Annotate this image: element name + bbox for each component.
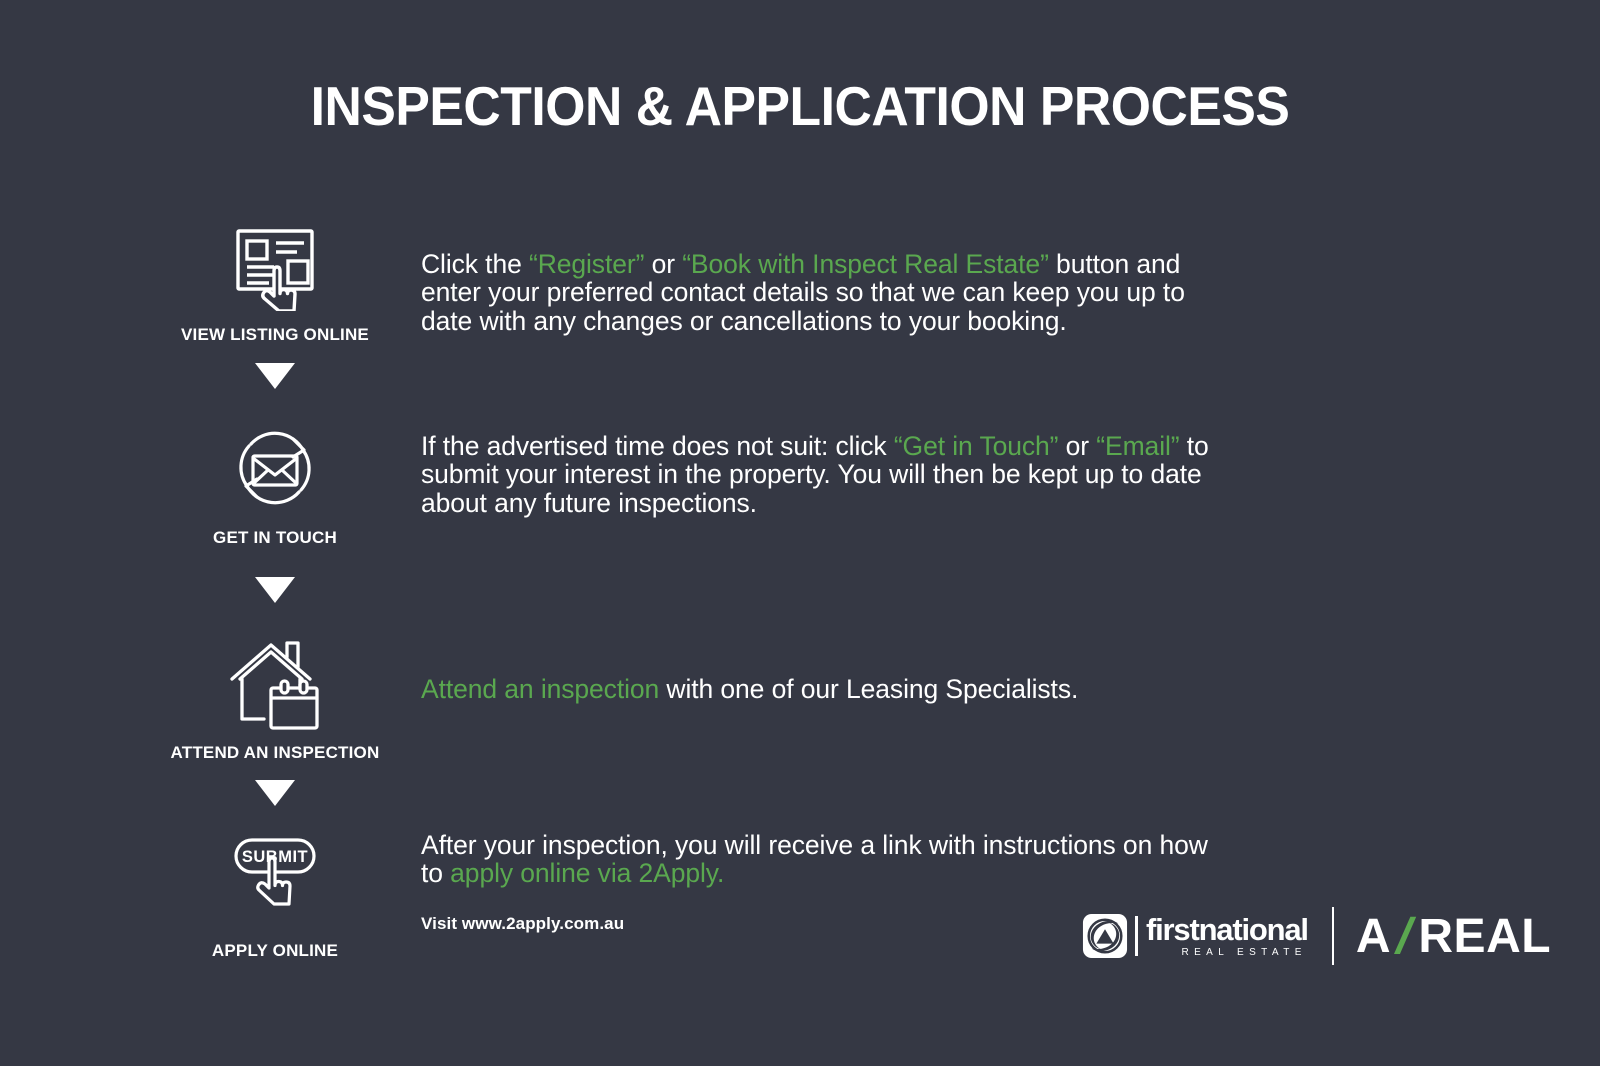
first-national-logo: firstnational REAL ESTATE (1082, 913, 1308, 959)
a-real-slash: / (1391, 907, 1420, 965)
house-calendar-icon (150, 633, 400, 733)
envelope-refresh-icon (150, 418, 400, 518)
step-apply-online: SUBMIT APPLY ONLINE (150, 831, 400, 961)
logo-rule (1135, 916, 1138, 956)
step-label: APPLY ONLINE (150, 941, 400, 961)
text-segment: or (644, 249, 682, 279)
step-attend-an-inspection: ATTEND AN INSPECTION (150, 633, 400, 763)
first-national-name: firstnational (1146, 914, 1308, 945)
text-segment: or (1058, 431, 1096, 461)
accent-register: “Register” (529, 249, 644, 279)
listing-cursor-icon (150, 215, 400, 315)
a-real-word: REAL (1418, 909, 1551, 964)
logo-bar: firstnational REAL ESTATE A / REAL (1082, 905, 1551, 967)
text-segment: with one of our Leasing Specialists. (659, 674, 1078, 704)
step-description-3: Attend an inspection with one of our Lea… (421, 675, 1211, 703)
first-national-tagline: REAL ESTATE (1146, 948, 1308, 958)
a-real-letter-a: A (1356, 909, 1391, 964)
step-label: ATTEND AN INSPECTION (150, 743, 400, 763)
step-description-4: After your inspection, you will receive … (421, 831, 1211, 888)
accent-get-in-touch: “Get in Touch” (894, 431, 1059, 461)
visit-url-note: Visit www.2apply.com.au (421, 914, 624, 934)
page-title: INSPECTION & APPLICATION PROCESS (48, 74, 1552, 138)
accent-attend-an-inspection: Attend an inspection (421, 674, 659, 704)
first-national-wordmark: firstnational REAL ESTATE (1146, 914, 1308, 958)
step-description-2: If the advertised time does not suit: cl… (421, 432, 1211, 517)
step-label: VIEW LISTING ONLINE (150, 325, 400, 345)
text-segment: Click the (421, 249, 529, 279)
step-view-listing-online: VIEW LISTING ONLINE (150, 215, 400, 345)
step-label: GET IN TOUCH (150, 528, 400, 548)
text-segment: If the advertised time does not suit: cl… (421, 431, 894, 461)
accent-apply-online-2apply: apply online via 2Apply. (450, 858, 724, 888)
submit-button-cursor-icon: SUBMIT (150, 831, 400, 931)
logo-divider (1332, 907, 1334, 965)
step-description-1: Click the “Register” or “Book with Inspe… (421, 250, 1211, 335)
first-national-emblem-icon (1082, 913, 1128, 959)
step-get-in-touch: GET IN TOUCH (150, 418, 400, 548)
flow-arrow-2 (150, 577, 400, 603)
accent-email: “Email” (1096, 431, 1179, 461)
a-real-logo: A / REAL (1356, 907, 1551, 965)
flow-arrow-3 (150, 780, 400, 806)
flow-arrow-1 (150, 363, 400, 389)
accent-book-with-inspect-real-estate: “Book with Inspect Real Estate” (682, 249, 1049, 279)
infographic-page: INSPECTION & APPLICATION PROCESS VIEW LI… (0, 0, 1600, 1066)
